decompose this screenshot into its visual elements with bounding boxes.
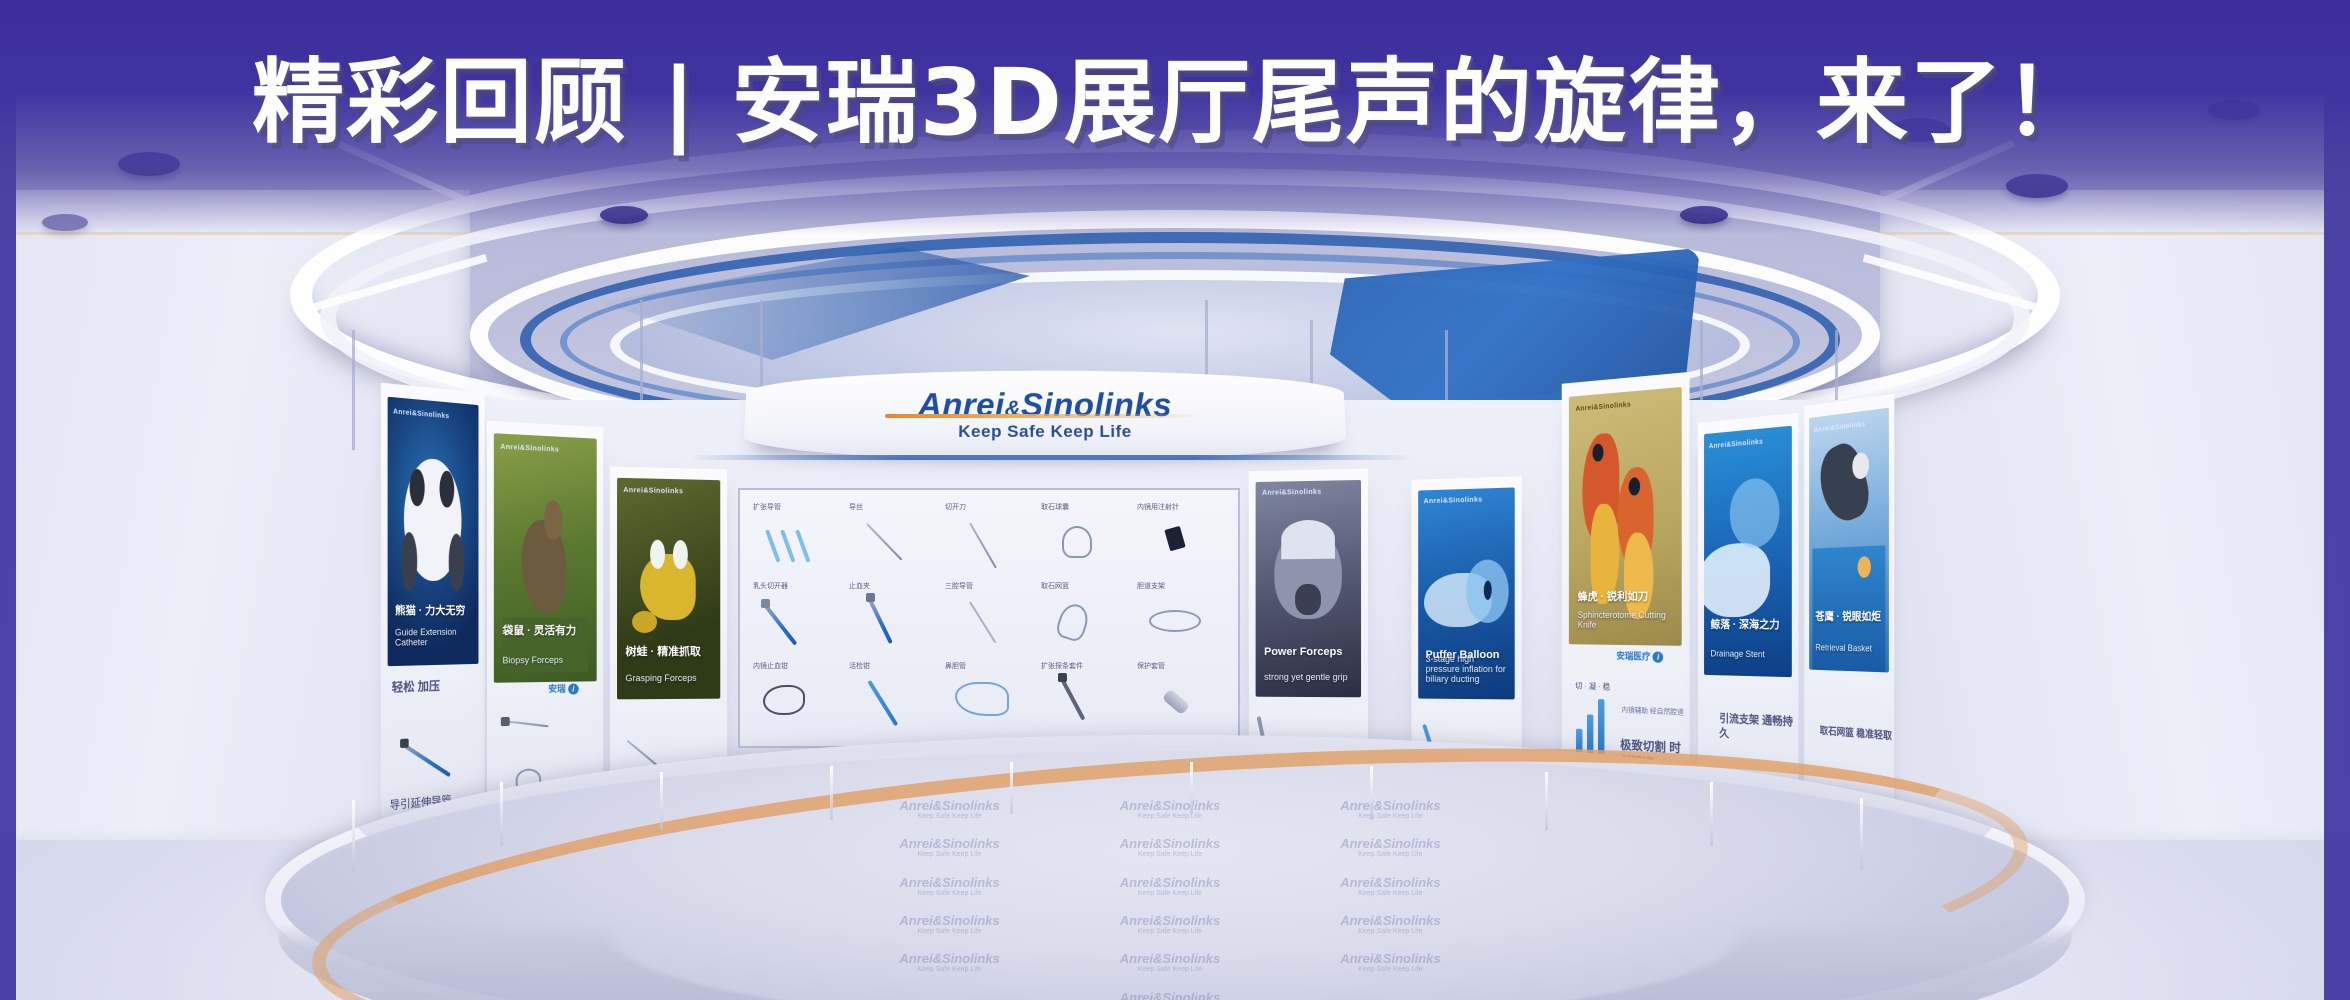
info-icon: i xyxy=(1653,652,1664,663)
product-label: 切开刀 xyxy=(945,502,966,512)
poster-subtitle: strong yet gentle grip xyxy=(1264,672,1352,682)
rail-post xyxy=(1545,772,1548,830)
brand-logo-text: Anrei&Sinolinks xyxy=(745,386,1346,424)
product-cell[interactable]: 鼻胆管 xyxy=(942,659,1036,736)
ceiling-light xyxy=(600,206,648,224)
mini-chart-annotation: 内镜辅助 经自然腔道 xyxy=(1621,704,1683,717)
ceiling-light xyxy=(118,152,180,176)
poster-title: Power Forceps xyxy=(1264,646,1352,658)
poster-title: 蜂虎 · 锐利如刀 xyxy=(1578,588,1672,604)
wall-trim-left xyxy=(0,232,480,235)
poster-subtitle: Retrieval Basket xyxy=(1815,642,1882,653)
product-cell[interactable]: 取石网篮 xyxy=(1038,579,1132,656)
showroom-scene: Anrei&Sinolinks Keep Safe Keep Life Anre… xyxy=(0,0,2350,1000)
product-label: 三腔导管 xyxy=(945,581,973,591)
kiosk-brand-mini: 安瑞医疗 i xyxy=(1616,649,1663,663)
poster-title: 树蛙 · 精准抓取 xyxy=(625,643,712,659)
product-label: 内镜止血钳 xyxy=(753,661,788,671)
product-cell[interactable]: 乳头切开器 xyxy=(750,579,844,656)
info-icon: i xyxy=(568,684,579,695)
edge-strip-left xyxy=(0,0,16,1000)
rail-post xyxy=(1190,762,1193,814)
kiosk-panda[interactable]: Anrei&Sinolinks 熊猫 · 力大无穷 Guide Extensio… xyxy=(381,383,485,834)
kiosk-caption-panda: 轻松 加压 xyxy=(392,678,440,696)
product-cell[interactable]: 保护套管 xyxy=(1134,659,1228,736)
product-cell[interactable]: 取石球囊 xyxy=(1038,500,1132,577)
product-cell[interactable]: 导丝 xyxy=(846,500,940,577)
mini-chart-legend: 切 · 凝 · 稳 xyxy=(1575,680,1610,692)
product-label: 扩张探条套件 xyxy=(1041,661,1083,671)
poster-subtitle: Sphincterotome Cutting Knife xyxy=(1578,610,1672,630)
poster-title: 袋鼠 · 灵活有力 xyxy=(502,622,588,638)
poster-brand-label: Anrei&Sinolinks xyxy=(623,487,683,495)
rail-post xyxy=(1710,782,1713,846)
product-cell[interactable]: 胆道支架 xyxy=(1134,579,1228,656)
product-label: 胆道支架 xyxy=(1137,581,1165,591)
product-label: 导丝 xyxy=(849,502,863,512)
poster-subtitle: 3-stage high pressure inflation for bili… xyxy=(1426,654,1508,684)
mini-bar xyxy=(1598,699,1604,755)
poster-panda: Anrei&Sinolinks 熊猫 · 力大无穷 Guide Extensio… xyxy=(387,397,478,667)
product-cell[interactable]: 活检钳 xyxy=(846,659,940,736)
poster-ocean: Anrei&Sinolinks 鲸落 · 深海之力 Drainage Stent xyxy=(1704,426,1792,678)
product-grid: 扩张导管 导丝 切开刀 取石球囊 内镜用注射针 乳头切开器 止血夹 三腔导管 取… xyxy=(750,500,1228,736)
poster-brand-label: Anrei&Sinolinks xyxy=(1424,496,1483,505)
mini-bar xyxy=(1587,714,1593,754)
product-label: 止血夹 xyxy=(849,581,870,591)
ceiling-light xyxy=(1888,118,1950,142)
poster-subtitle: Guide Extension Catheter xyxy=(395,626,472,647)
product-display-board[interactable]: 扩张导管 导丝 切开刀 取石球囊 内镜用注射针 乳头切开器 止血夹 三腔导管 取… xyxy=(738,488,1240,748)
rail-post xyxy=(660,772,663,830)
kiosk-caption-eagle: 取石网篮 稳准轻取 xyxy=(1820,725,1892,744)
rail-post xyxy=(830,766,833,820)
kiosk-brand-mini: 安瑞 i xyxy=(548,682,578,695)
product-label: 扩张导管 xyxy=(753,502,781,512)
edge-strip-right xyxy=(2324,0,2350,1000)
product-label: 取石球囊 xyxy=(1041,502,1069,512)
product-cell[interactable]: 切开刀 xyxy=(942,500,1036,577)
poster-brand-label: Anrei&Sinolinks xyxy=(393,408,449,420)
rail-post xyxy=(1370,766,1373,820)
poster-subtitle: Drainage Stent xyxy=(1711,649,1785,660)
brand-logo-band: Anrei&Sinolinks Keep Safe Keep Life xyxy=(743,371,1348,460)
wall-trim-right xyxy=(1870,232,2350,235)
product-label: 活检钳 xyxy=(849,661,870,671)
brand-underline xyxy=(690,455,1410,460)
poster-brand-label: Anrei&Sinolinks xyxy=(1575,401,1631,412)
product-cell[interactable]: 止血夹 xyxy=(846,579,940,656)
rail-post xyxy=(1010,762,1013,814)
brand-tagline: Keep Safe Keep Life xyxy=(744,422,1347,442)
ceiling-light xyxy=(1680,206,1728,224)
product-label: 内镜用注射针 xyxy=(1137,502,1179,512)
rail-post xyxy=(500,782,503,846)
product-cell[interactable]: 内镜止血钳 xyxy=(750,659,844,736)
product-cell[interactable]: 扩张探条套件 xyxy=(1038,659,1132,736)
poster-subtitle: Biopsy Forceps xyxy=(502,655,588,666)
rail-post xyxy=(1860,798,1863,870)
poster-title: 熊猫 · 力大无穷 xyxy=(395,602,472,618)
poster-title: 鲸落 · 深海之力 xyxy=(1711,616,1785,632)
hanger-wire xyxy=(352,330,355,450)
mini-bar-chart xyxy=(1576,698,1604,755)
product-label: 保护套管 xyxy=(1137,661,1165,671)
product-cell[interactable]: 内镜用注射针 xyxy=(1134,500,1228,577)
product-cell[interactable]: 扩张导管 xyxy=(750,500,844,577)
poster-eagle: Anrei&Sinolinks 苍鹰 · 锐眼如炬 Retrieval Bask… xyxy=(1809,408,1888,673)
poster-kangaroo: Anrei&Sinolinks 袋鼠 · 灵活有力 Biopsy Forceps xyxy=(494,434,596,684)
ceiling-light xyxy=(42,214,88,231)
poster-badger: Anrei&Sinolinks Power Forceps strong yet… xyxy=(1256,480,1361,697)
rail-post xyxy=(352,800,355,872)
poster-title: 苍鹰 · 锐眼如炬 xyxy=(1815,608,1882,624)
poster-brand-label: Anrei&Sinolinks xyxy=(1262,489,1322,497)
poster-brand-label: Anrei&Sinolinks xyxy=(500,444,559,454)
product-label: 鼻胆管 xyxy=(945,661,966,671)
poster-puffer: Anrei&Sinolinks Puffer Balloon 3-stage h… xyxy=(1418,487,1515,699)
poster-birds: Anrei&Sinolinks 蜂虎 · 锐利如刀 Sphincterotome… xyxy=(1569,387,1682,646)
poster-frog: Anrei&Sinolinks 树蛙 · 精准抓取 Grasping Force… xyxy=(617,478,720,699)
ceiling-light xyxy=(2006,174,2068,198)
poster-brand-label: Anrei&Sinolinks xyxy=(1814,421,1865,434)
product-label: 乳头切开器 xyxy=(753,581,788,591)
brand-swoosh-icon xyxy=(885,414,1205,418)
poster-brand-label: Anrei&Sinolinks xyxy=(1709,439,1763,451)
poster-subtitle: Grasping Forceps xyxy=(625,673,712,683)
ceiling-light xyxy=(2208,100,2260,120)
product-cell[interactable]: 三腔导管 xyxy=(942,579,1036,656)
product-label: 取石网篮 xyxy=(1041,581,1069,591)
kiosk-caption-ocean: 引流支架 通畅持久 xyxy=(1719,712,1798,746)
